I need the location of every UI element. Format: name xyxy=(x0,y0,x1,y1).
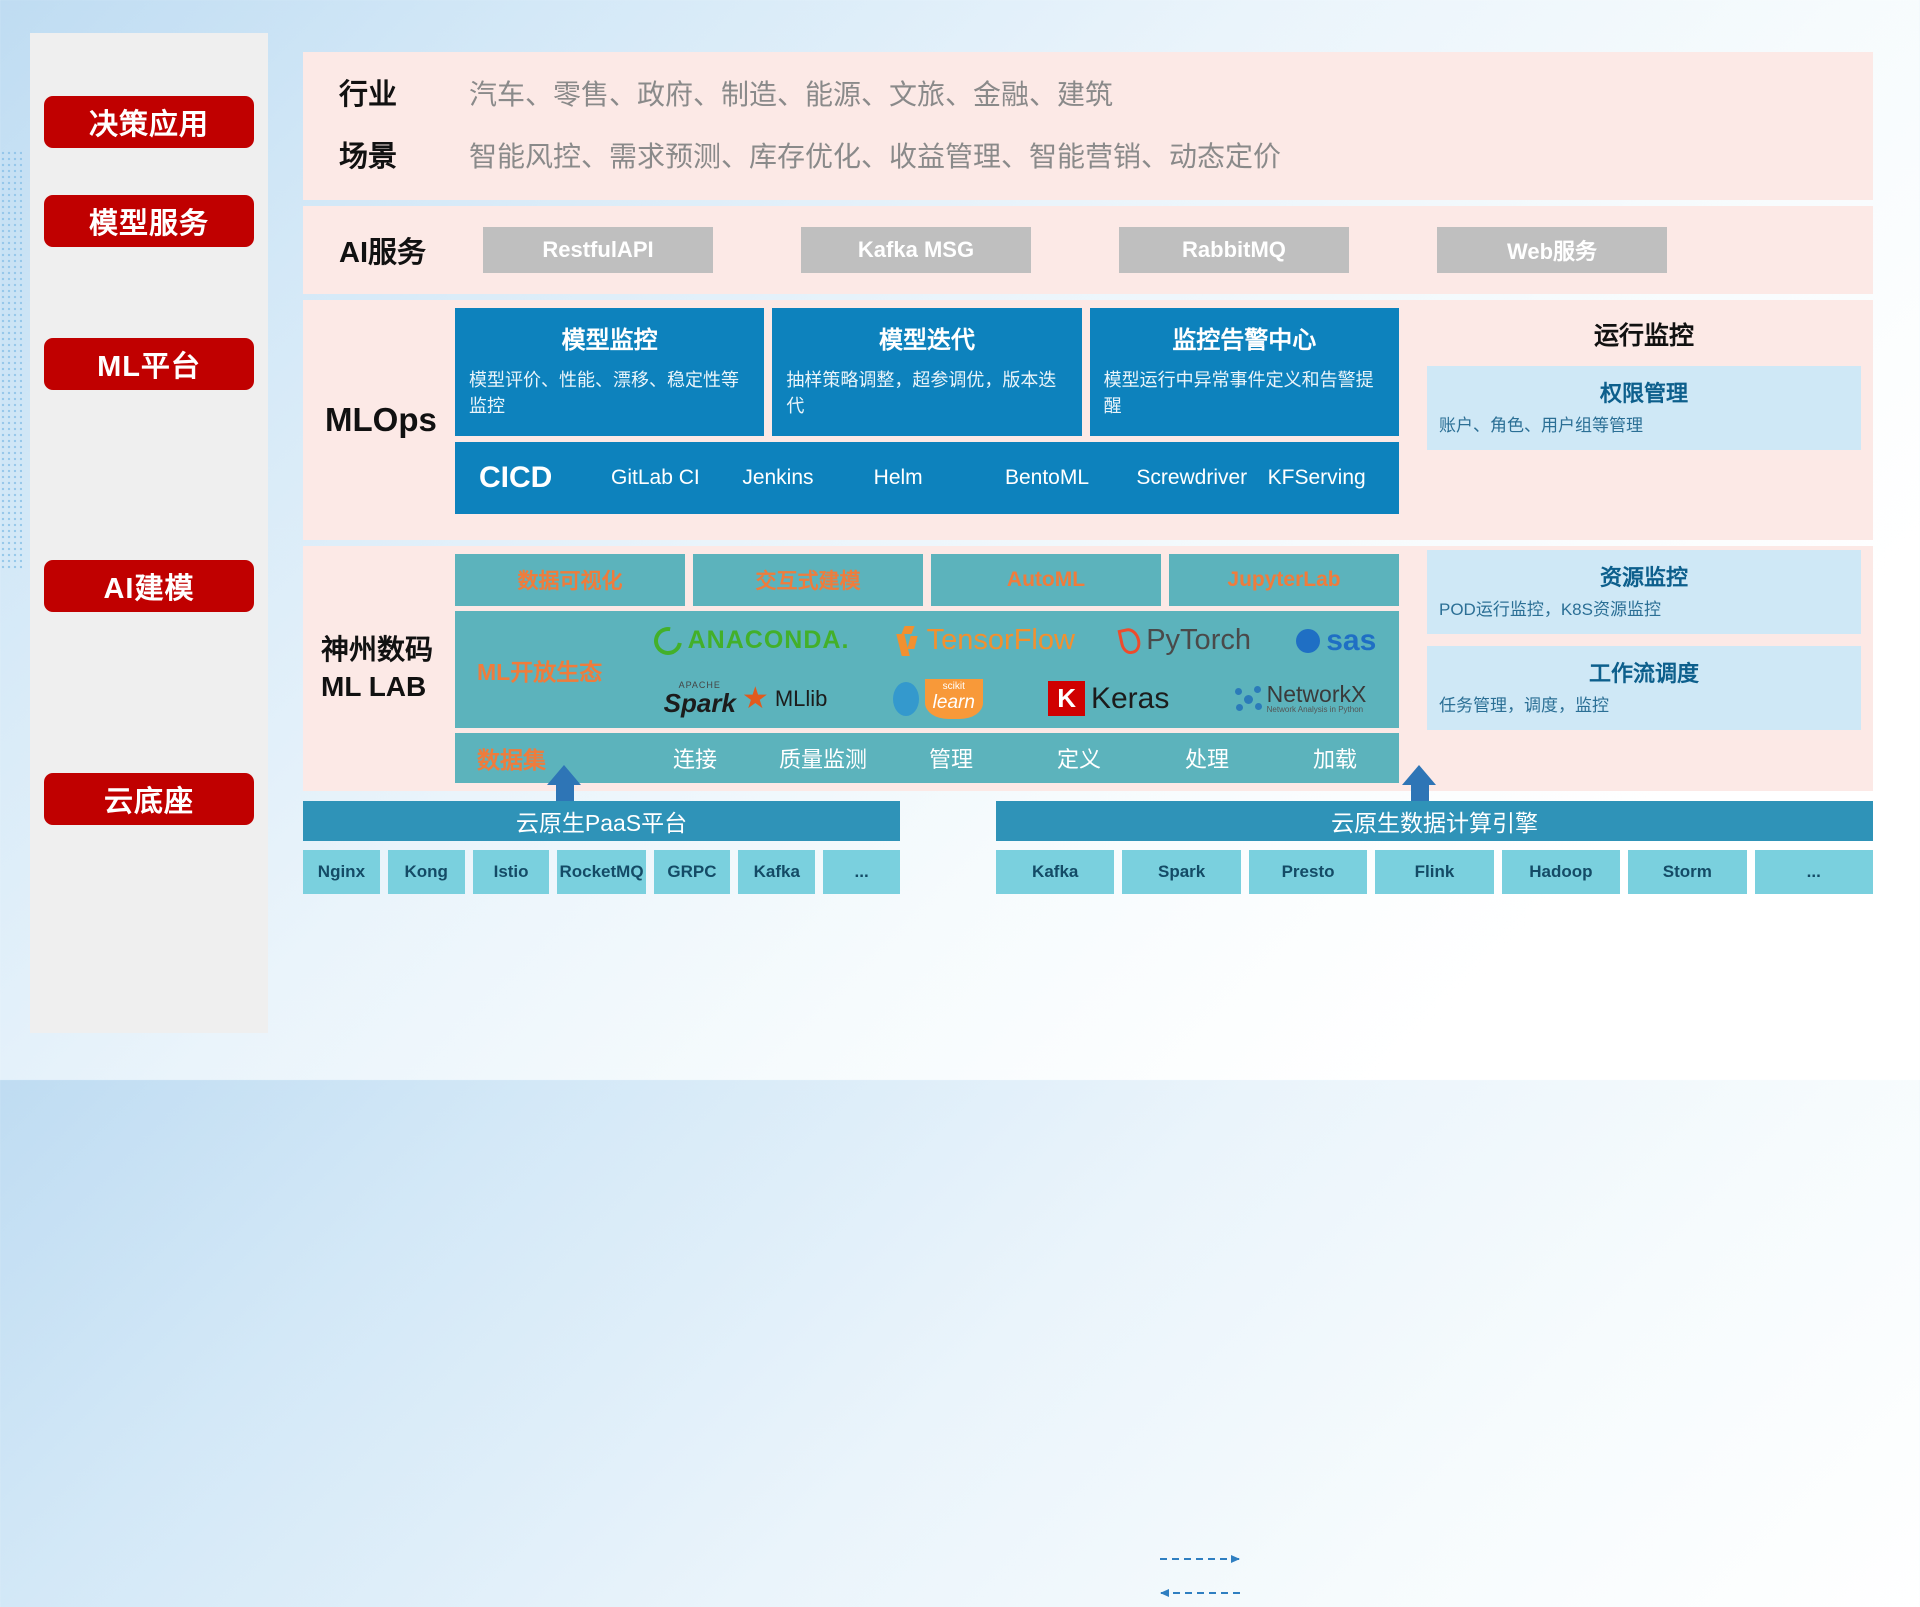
ml-lab-title: 神州数码 ML LAB xyxy=(303,546,455,791)
apps-label-column: 行业 场景 xyxy=(339,64,457,188)
cloud-bar-data-engine[interactable]: 云原生数据计算引擎 xyxy=(996,801,1873,841)
anaconda-ring-icon xyxy=(648,621,687,660)
ai-service-title: AI服务 xyxy=(339,229,457,271)
monitoring-card-resources[interactable]: 资源监控 POD运行监控，K8S资源监控 xyxy=(1427,550,1861,634)
anaconda-label: ANACONDA. xyxy=(688,626,850,655)
card-desc: POD运行监控，K8S资源监控 xyxy=(1439,598,1849,622)
mlops-card-alert-center[interactable]: 监控告警中心 模型运行中异常事件定义和告警提醒 xyxy=(1090,308,1399,436)
mlops-left-region: MLOps 模型监控 模型评价、性能、漂移、稳定性等监控 模型迭代 抽样策略调整… xyxy=(303,300,1409,540)
band-decision-applications: 行业 场景 汽车、零售、政府、制造、能源、文旅、金融、建筑 智能风控、需求预测、… xyxy=(303,52,1873,200)
ml-lab-title-line1: 神州数码 xyxy=(321,632,455,668)
mlops-content: 模型监控 模型评价、性能、漂移、稳定性等监控 模型迭代 抽样策略调整，超参调优，… xyxy=(455,300,1409,540)
cicd-item-bentoml[interactable]: BentoML xyxy=(1005,466,1136,490)
mlops-card-model-monitoring[interactable]: 模型监控 模型评价、性能、漂移、稳定性等监控 xyxy=(455,308,764,436)
stage-button-ml-platform[interactable]: ML平台 xyxy=(44,338,254,390)
paas-chip-kafka[interactable]: Kafka xyxy=(738,850,815,894)
ml-lab-tab-list: 数据可视化 交互式建模 AutoML JupyterLab xyxy=(455,554,1399,606)
cicd-label: CICD xyxy=(479,461,611,495)
upward-arrows xyxy=(303,765,1873,801)
paas-chip-kong[interactable]: Kong xyxy=(388,850,465,894)
stage-button-decision-apps[interactable]: 决策应用 xyxy=(44,96,254,148)
arrow-stem-engine xyxy=(1411,785,1429,801)
ecosystem-logo-row-2: APACHE Spark ★ MLlib scikit learn xyxy=(631,671,1399,727)
ml-lab-title-line2: ML LAB xyxy=(321,669,455,705)
tensorflow-mark-icon xyxy=(895,626,921,656)
cloud-base-region: 云原生PaaS平台 云原生数据计算引擎 Nginx Kong Istio Roc… xyxy=(303,765,1873,894)
scikit-top-label: scikit xyxy=(933,681,975,692)
ecosystem-logo-grid: ANACONDA. TensorFlow xyxy=(631,613,1399,727)
scikit-bottom-label: learn xyxy=(933,692,975,714)
networkx-logo[interactable]: NetworkX Network Analysis in Python xyxy=(1235,682,1367,715)
keras-label: Keras xyxy=(1091,682,1169,716)
card-title: 模型监控 xyxy=(469,320,750,355)
monitoring-title: 运行监控 xyxy=(1427,316,1861,352)
card-title: 监控告警中心 xyxy=(1104,320,1385,355)
spark-star-icon: ★ xyxy=(742,684,769,714)
paas-chip-nginx[interactable]: Nginx xyxy=(303,850,380,894)
monitoring-card-permissions[interactable]: 权限管理 账户、角色、用户组等管理 xyxy=(1427,366,1861,450)
ml-lab-left-region: 神州数码 ML LAB 数据可视化 交互式建模 AutoML JupyterLa… xyxy=(303,546,1409,791)
cloud-chip-rows: Nginx Kong Istio RocketMQ GRPC Kafka ...… xyxy=(303,850,1873,894)
stage-label: 决策应用 xyxy=(89,101,209,143)
sas-mark-icon xyxy=(1296,629,1320,653)
tensorflow-label: TensorFlow xyxy=(927,624,1075,657)
paas-chip-more[interactable]: ... xyxy=(823,850,900,894)
scenario-value: 智能风控、需求预测、库存优化、收益管理、智能营销、动态定价 xyxy=(469,126,1281,188)
mlops-card-model-iteration[interactable]: 模型迭代 抽样策略调整，超参调优，版本迭代 xyxy=(772,308,1081,436)
ml-lab-tab-data-visualization[interactable]: 数据可视化 xyxy=(455,554,685,606)
industry-value: 汽车、零售、政府、制造、能源、文旅、金融、建筑 xyxy=(469,64,1281,126)
stage-label: AI建模 xyxy=(103,565,194,607)
engine-chip-more[interactable]: ... xyxy=(1755,850,1873,894)
monitoring-column-lower: 资源监控 POD运行监控，K8S资源监控 工作流调度 任务管理，调度，监控 xyxy=(1415,546,1873,791)
keras-logo[interactable]: K Keras xyxy=(1048,681,1169,716)
arrow-stem-paas xyxy=(556,785,574,801)
paas-chip-row: Nginx Kong Istio RocketMQ GRPC Kafka ... xyxy=(303,850,900,894)
ml-open-ecosystem-label: ML开放生态 xyxy=(455,653,631,687)
mlops-card-list: 模型监控 模型评价、性能、漂移、稳定性等监控 模型迭代 抽样策略调整，超参调优，… xyxy=(455,308,1399,436)
band-mlops: MLOps 模型监控 模型评价、性能、漂移、稳定性等监控 模型迭代 抽样策略调整… xyxy=(303,300,1873,540)
apps-value-column: 汽车、零售、政府、制造、能源、文旅、金融、建筑 智能风控、需求预测、库存优化、收… xyxy=(469,64,1281,188)
anaconda-logo[interactable]: ANACONDA. xyxy=(654,626,850,655)
paas-chip-istio[interactable]: Istio xyxy=(473,850,550,894)
industry-label: 行业 xyxy=(339,64,457,126)
ai-service-chip-restfulapi[interactable]: RestfulAPI xyxy=(483,227,713,273)
stage-label: 云底座 xyxy=(104,778,194,820)
stage-label: ML平台 xyxy=(97,343,201,385)
networkx-subtitle: Network Analysis in Python xyxy=(1267,706,1367,714)
pytorch-flame-icon xyxy=(1118,626,1143,656)
stage-button-cloud-base[interactable]: 云底座 xyxy=(44,773,254,825)
ml-lab-content: 数据可视化 交互式建模 AutoML JupyterLab ML开放生态 ANA… xyxy=(455,546,1409,791)
cicd-item-jenkins[interactable]: Jenkins xyxy=(742,466,873,490)
scenario-label: 场景 xyxy=(339,126,457,188)
networkx-wordmark: NetworkX Network Analysis in Python xyxy=(1267,682,1367,715)
stage-button-ai-modeling[interactable]: AI建模 xyxy=(44,560,254,612)
bidirectional-dashed-connector xyxy=(1158,1543,1242,1607)
card-desc: 模型评价、性能、漂移、稳定性等监控 xyxy=(469,367,750,419)
cloud-bar-list: 云原生PaaS平台 云原生数据计算引擎 xyxy=(303,801,1873,841)
cicd-item-gitlab-ci[interactable]: GitLab CI xyxy=(611,466,742,490)
spark-label: Spark xyxy=(664,690,736,716)
cloud-bar-paas[interactable]: 云原生PaaS平台 xyxy=(303,801,900,841)
monitoring-column: 运行监控 权限管理 账户、角色、用户组等管理 xyxy=(1415,300,1873,540)
engine-chip-row: Kafka Spark Presto Flink Hadoop Storm ..… xyxy=(996,850,1873,894)
mllib-label: MLlib xyxy=(775,686,828,712)
engine-chip-hadoop[interactable]: Hadoop xyxy=(1502,850,1620,894)
arrow-up-engine xyxy=(1402,765,1436,785)
stage-label: 模型服务 xyxy=(89,200,209,242)
paas-chip-grpc[interactable]: GRPC xyxy=(654,850,731,894)
ml-lab-tab-jupyterlab[interactable]: JupyterLab xyxy=(1169,554,1399,606)
ai-service-chip-rabbitmq[interactable]: RabbitMQ xyxy=(1119,227,1349,273)
architecture-main: 行业 场景 汽车、零售、政府、制造、能源、文旅、金融、建筑 智能风控、需求预测、… xyxy=(303,52,1873,791)
tensorflow-logo[interactable]: TensorFlow xyxy=(895,624,1075,657)
card-desc: 任务管理，调度，监控 xyxy=(1439,694,1849,718)
pytorch-logo[interactable]: PyTorch xyxy=(1120,624,1251,657)
ecosystem-logo-row-1: ANACONDA. TensorFlow xyxy=(631,613,1399,669)
cicd-item-screwdriver[interactable]: Screwdriver xyxy=(1136,466,1267,490)
stage-button-model-service[interactable]: 模型服务 xyxy=(44,195,254,247)
card-title: 模型迭代 xyxy=(786,320,1067,355)
ml-lab-tab-automl[interactable]: AutoML xyxy=(931,554,1161,606)
ai-service-chip-kafka-msg[interactable]: Kafka MSG xyxy=(801,227,1031,273)
card-title: 资源监控 xyxy=(1439,560,1849,592)
card-desc: 模型运行中异常事件定义和告警提醒 xyxy=(1104,367,1385,419)
card-desc: 抽样策略调整，超参调优，版本迭代 xyxy=(786,367,1067,419)
stage-rail: 决策应用 模型服务 ML平台 AI建模 云底座 xyxy=(30,33,268,1033)
sas-logo[interactable]: sas xyxy=(1296,624,1376,658)
scikit-learn-badge: scikit learn xyxy=(925,679,983,719)
cicd-bar: CICD GitLab CI Jenkins Helm BentoML Scre… xyxy=(455,442,1399,514)
card-title: 工作流调度 xyxy=(1439,656,1849,688)
card-desc: 账户、角色、用户组等管理 xyxy=(1439,414,1849,438)
arrow-up-paas xyxy=(547,765,581,785)
cicd-item-helm[interactable]: Helm xyxy=(874,466,1005,490)
ml-lab-tab-interactive-modeling[interactable]: 交互式建模 xyxy=(693,554,923,606)
engine-chip-spark[interactable]: Spark xyxy=(1122,850,1240,894)
networkx-label: NetworkX xyxy=(1267,682,1367,706)
band-ml-lab: 神州数码 ML LAB 数据可视化 交互式建模 AutoML JupyterLa… xyxy=(303,546,1873,791)
spark-wordmark: APACHE Spark xyxy=(664,681,736,716)
engine-chip-kafka[interactable]: Kafka xyxy=(996,850,1114,894)
decorative-dots xyxy=(0,150,22,570)
spark-mllib-logo[interactable]: APACHE Spark ★ MLlib xyxy=(664,681,828,716)
cicd-item-list: GitLab CI Jenkins Helm BentoML Screwdriv… xyxy=(611,466,1399,490)
engine-chip-storm[interactable]: Storm xyxy=(1628,850,1746,894)
sas-label: sas xyxy=(1326,624,1376,658)
paas-chip-rocketmq[interactable]: RocketMQ xyxy=(557,850,645,894)
card-title: 权限管理 xyxy=(1439,376,1849,408)
keras-k-icon: K xyxy=(1048,681,1085,716)
networkx-graph-icon xyxy=(1235,686,1261,712)
engine-chip-flink[interactable]: Flink xyxy=(1375,850,1493,894)
scikit-blob-icon xyxy=(893,682,919,716)
band-ai-service: AI服务 RestfulAPI Kafka MSG RabbitMQ Web服务 xyxy=(303,206,1873,294)
scikit-learn-logo[interactable]: scikit learn xyxy=(893,679,983,719)
monitoring-card-workflow[interactable]: 工作流调度 任务管理，调度，监控 xyxy=(1427,646,1861,730)
mlops-title: MLOps xyxy=(303,300,455,540)
ai-service-chip-web-service[interactable]: Web服务 xyxy=(1437,227,1667,273)
ml-open-ecosystem-row: ML开放生态 ANACONDA. xyxy=(455,611,1399,728)
ai-service-chip-list: RestfulAPI Kafka MSG RabbitMQ Web服务 xyxy=(483,227,1667,273)
engine-chip-presto[interactable]: Presto xyxy=(1249,850,1367,894)
pytorch-label: PyTorch xyxy=(1146,624,1251,657)
cicd-item-kfserving[interactable]: KFServing xyxy=(1268,466,1399,490)
